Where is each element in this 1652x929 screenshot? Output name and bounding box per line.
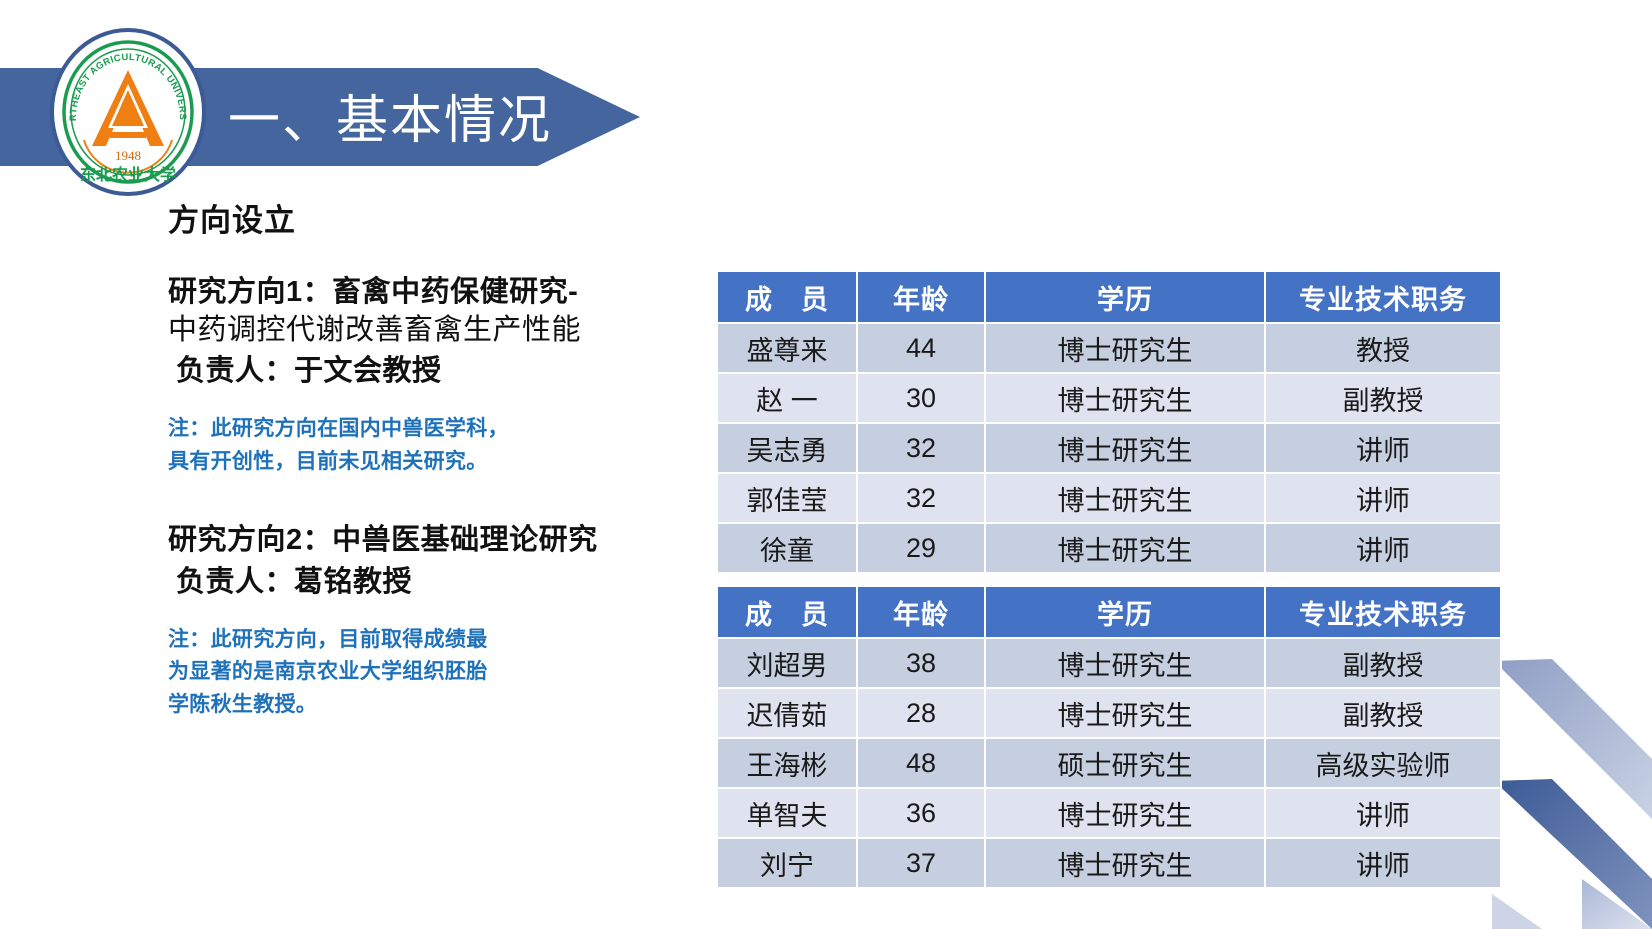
table-1-cell-r1-c3: 副教授 bbox=[1265, 373, 1501, 423]
direction-2-note-line-1: 注：此研究方向，目前取得成绩最 bbox=[168, 628, 488, 651]
table-1-cell-r3-c0: 郭佳莹 bbox=[717, 473, 857, 523]
direction-1-line-1: 研究方向1：畜禽中药保健研究- bbox=[168, 274, 678, 312]
table-2-cell-r1-c3: 副教授 bbox=[1265, 688, 1501, 738]
table-1-cell-r1-c1: 30 bbox=[857, 373, 985, 423]
direction-1-owner-text: 负责人：于文会教授 bbox=[176, 355, 442, 387]
table-1-cell-r2-c0: 吴志勇 bbox=[717, 423, 857, 473]
table-2-cell-r4-c1: 37 bbox=[857, 838, 985, 888]
direction-1-note: 注：此研究方向在国内中兽医学科， 具有开创性，目前未见相关研究。 bbox=[168, 413, 678, 478]
table-1-cell-r0-c1: 44 bbox=[857, 323, 985, 373]
direction-1-owner: 负责人：于文会教授 bbox=[176, 353, 678, 391]
svg-text:东北农业大学: 东北农业大学 bbox=[80, 165, 176, 184]
direction-1-note-line-1: 注：此研究方向在国内中兽医学科， bbox=[168, 417, 509, 440]
direction-1-note-line-2: 具有开创性，目前未见相关研究。 bbox=[168, 450, 488, 473]
table-row: 赵 一30博士研究生副教授 bbox=[717, 373, 1501, 423]
table-2-header-3: 专业技术职务 bbox=[1265, 586, 1501, 638]
table-1-cell-r2-c3: 讲师 bbox=[1265, 423, 1501, 473]
table-2-cell-r2-c2: 硕士研究生 bbox=[985, 738, 1265, 788]
table-row: 徐童29博士研究生讲师 bbox=[717, 523, 1501, 573]
university-logo: NORTHEAST AGRICULTURAL UNIVERSITY 1948 东… bbox=[48, 28, 208, 196]
table-2-cell-r2-c0: 王海彬 bbox=[717, 738, 857, 788]
team-table-1: 成 员年龄学历专业技术职务 盛尊来44博士研究生教授赵 一30博士研究生副教授吴… bbox=[716, 270, 1502, 574]
university-emblem-icon: NORTHEAST AGRICULTURAL UNIVERSITY 1948 东… bbox=[48, 28, 208, 196]
table-header-row: 成 员年龄学历专业技术职务 bbox=[717, 271, 1501, 323]
table-1-cell-r4-c2: 博士研究生 bbox=[985, 523, 1265, 573]
table-1-header-3: 专业技术职务 bbox=[1265, 271, 1501, 323]
table-2-cell-r1-c0: 迟倩茹 bbox=[717, 688, 857, 738]
table-row: 单智夫36博士研究生讲师 bbox=[717, 788, 1501, 838]
table-row: 迟倩茹28博士研究生副教授 bbox=[717, 688, 1501, 738]
table-2-cell-r0-c0: 刘超男 bbox=[717, 638, 857, 688]
direction-2-block: 研究方向2：中兽医基础理论研究 负责人：葛铭教授 注：此研究方向，目前取得成绩最… bbox=[168, 522, 678, 721]
left-content-column: 方向设立 研究方向1：畜禽中药保健研究- 中药调控代谢改善畜禽生产性能 负责人：… bbox=[168, 195, 678, 721]
table-row: 吴志勇32博士研究生讲师 bbox=[717, 423, 1501, 473]
table-row: 刘宁37博士研究生讲师 bbox=[717, 838, 1501, 888]
table-2-header-2: 学历 bbox=[985, 586, 1265, 638]
table-1-header-0: 成 员 bbox=[717, 271, 857, 323]
table-1-cell-r4-c3: 讲师 bbox=[1265, 523, 1501, 573]
table-2-cell-r3-c1: 36 bbox=[857, 788, 985, 838]
direction-2-owner-text: 负责人：葛铭教授 bbox=[176, 566, 412, 598]
table-1-cell-r4-c0: 徐童 bbox=[717, 523, 857, 573]
table-1-cell-r0-c0: 盛尊来 bbox=[717, 323, 857, 373]
table-2-cell-r0-c3: 副教授 bbox=[1265, 638, 1501, 688]
section-heading: 方向设立 bbox=[168, 195, 678, 240]
svg-text:1948: 1948 bbox=[115, 148, 141, 163]
table-1-header-1: 年龄 bbox=[857, 271, 985, 323]
direction-1-label: 研究方向1：畜禽中药保健研究- bbox=[168, 276, 578, 308]
table-1-cell-r3-c3: 讲师 bbox=[1265, 473, 1501, 523]
table-1-head: 成 员年龄学历专业技术职务 bbox=[717, 271, 1501, 323]
page-title: 一、基本情况 bbox=[228, 78, 552, 153]
table-2-cell-r2-c3: 高级实验师 bbox=[1265, 738, 1501, 788]
table-1-body: 盛尊来44博士研究生教授赵 一30博士研究生副教授吴志勇32博士研究生讲师郭佳莹… bbox=[717, 323, 1501, 573]
table-1-cell-r3-c2: 博士研究生 bbox=[985, 473, 1265, 523]
direction-1-line-2: 中药调控代谢改善畜禽生产性能 bbox=[168, 312, 678, 350]
table-2-cell-r4-c0: 刘宁 bbox=[717, 838, 857, 888]
table-2-cell-r1-c2: 博士研究生 bbox=[985, 688, 1265, 738]
table-2-cell-r2-c1: 48 bbox=[857, 738, 985, 788]
direction-2-label: 研究方向2：中兽医基础理论研究 bbox=[168, 524, 598, 556]
table-1-cell-r1-c2: 博士研究生 bbox=[985, 373, 1265, 423]
table-1-cell-r2-c2: 博士研究生 bbox=[985, 423, 1265, 473]
table-1-header-2: 学历 bbox=[985, 271, 1265, 323]
table-1-cell-r0-c2: 博士研究生 bbox=[985, 323, 1265, 373]
table-2-cell-r0-c2: 博士研究生 bbox=[985, 638, 1265, 688]
table-1-cell-r3-c1: 32 bbox=[857, 473, 985, 523]
table-1-cell-r0-c3: 教授 bbox=[1265, 323, 1501, 373]
table-2-head: 成 员年龄学历专业技术职务 bbox=[717, 586, 1501, 638]
table-2-cell-r4-c2: 博士研究生 bbox=[985, 838, 1265, 888]
table-2-header-0: 成 员 bbox=[717, 586, 857, 638]
direction-1-block: 研究方向1：畜禽中药保健研究- 中药调控代谢改善畜禽生产性能 负责人：于文会教授… bbox=[168, 274, 678, 478]
table-2-cell-r3-c2: 博士研究生 bbox=[985, 788, 1265, 838]
direction-2-owner: 负责人：葛铭教授 bbox=[176, 564, 678, 602]
table-row: 郭佳莹32博士研究生讲师 bbox=[717, 473, 1501, 523]
table-2-cell-r0-c1: 38 bbox=[857, 638, 985, 688]
table-row: 王海彬48硕士研究生高级实验师 bbox=[717, 738, 1501, 788]
table-2-cell-r4-c3: 讲师 bbox=[1265, 838, 1501, 888]
table-1-cell-r4-c1: 29 bbox=[857, 523, 985, 573]
table-1-cell-r1-c0: 赵 一 bbox=[717, 373, 857, 423]
table-2-cell-r3-c0: 单智夫 bbox=[717, 788, 857, 838]
direction-2-note-line-3: 学陈秋生教授。 bbox=[168, 693, 317, 716]
table-row: 刘超男38博士研究生副教授 bbox=[717, 638, 1501, 688]
direction-2-line-1: 研究方向2：中兽医基础理论研究 bbox=[168, 522, 678, 560]
table-row: 盛尊来44博士研究生教授 bbox=[717, 323, 1501, 373]
table-2-body: 刘超男38博士研究生副教授迟倩茹28博士研究生副教授王海彬48硕士研究生高级实验… bbox=[717, 638, 1501, 888]
table-header-row: 成 员年龄学历专业技术职务 bbox=[717, 586, 1501, 638]
team-table-2: 成 员年龄学历专业技术职务 刘超男38博士研究生副教授迟倩茹28博士研究生副教授… bbox=[716, 585, 1502, 889]
table-2-cell-r1-c1: 28 bbox=[857, 688, 985, 738]
direction-2-note: 注：此研究方向，目前取得成绩最 为显著的是南京农业大学组织胚胎 学陈秋生教授。 bbox=[168, 624, 678, 722]
table-2-header-1: 年龄 bbox=[857, 586, 985, 638]
table-2-cell-r3-c3: 讲师 bbox=[1265, 788, 1501, 838]
direction-2-note-line-2: 为显著的是南京农业大学组织胚胎 bbox=[168, 660, 488, 683]
table-1-cell-r2-c1: 32 bbox=[857, 423, 985, 473]
